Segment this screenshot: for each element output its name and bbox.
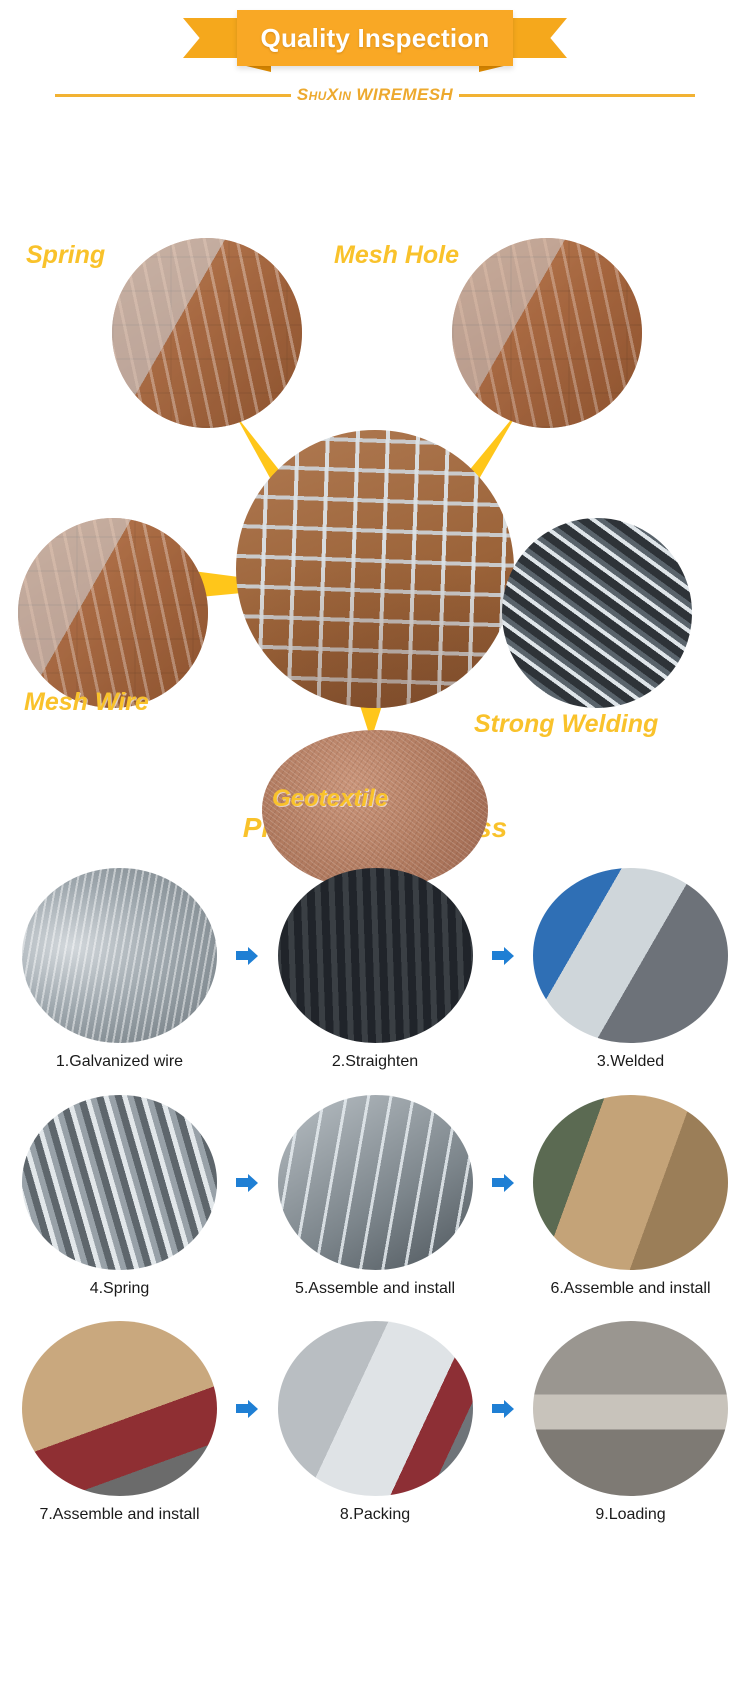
process-row-1: 1.Galvanized wire 2.Straighten 3.Welded [22,868,728,1071]
label-mesh-hole: Mesh Hole [334,241,459,270]
process-grid: 1.Galvanized wire 2.Straighten 3.Welded … [0,868,750,1524]
photo-mesh-hole [452,238,642,428]
label-spring: Spring [26,241,105,270]
process-step-2[interactable]: 2.Straighten [278,868,473,1071]
step-thumbnail [278,868,473,1043]
rule-left [55,94,291,97]
label-strong-welding: Strong Welding [474,710,658,739]
center-product-photo [236,430,514,708]
photo-mesh-wire [18,518,208,708]
step-thumbnail [533,1095,728,1270]
ribbon-graphic: Quality Inspection [183,10,567,66]
step-caption: 8.Packing [340,1506,410,1524]
step-caption: 9.Loading [595,1506,665,1524]
process-step-4[interactable]: 4.Spring [22,1095,217,1298]
photo-spring [112,238,302,428]
arrow-right-icon [490,943,516,969]
step-caption: 7.Assemble and install [39,1506,199,1524]
brand-subtitle: ShuXin WIREMESH [0,80,750,110]
step-thumbnail [278,1321,473,1496]
step-caption: 3.Welded [597,1053,664,1071]
arrow-right-icon [490,1396,516,1422]
page-banner: Quality Inspection [0,6,750,74]
arrow-right-icon [234,943,260,969]
arrow-right-icon [234,1170,260,1196]
process-step-3[interactable]: 3.Welded [533,868,728,1071]
page-title: Quality Inspection [261,23,490,54]
step-thumbnail [22,1321,217,1496]
step-caption: 5.Assemble and install [295,1280,455,1298]
label-mesh-wire: Mesh Wire [24,688,149,717]
step-thumbnail [533,868,728,1043]
label-geotextile: Geotextile [272,785,388,813]
process-step-7[interactable]: 7.Assemble and install [22,1321,217,1524]
process-row-2: 4.Spring 5.Assemble and install 6.Assemb… [22,1095,728,1298]
inspection-diagram: Spring Mesh Hole Mesh Wire Strong Weldin… [0,110,750,810]
process-step-6[interactable]: 6.Assemble and install [533,1095,728,1298]
step-caption: 1.Galvanized wire [56,1053,183,1071]
process-step-9[interactable]: 9.Loading [533,1321,728,1524]
brand-name: ShuXin WIREMESH [291,85,459,105]
arrow-right-icon [234,1396,260,1422]
step-thumbnail [533,1321,728,1496]
photo-strong-welding [502,518,692,708]
process-step-1[interactable]: 1.Galvanized wire [22,868,217,1071]
step-caption: 4.Spring [90,1280,150,1298]
step-thumbnail [22,868,217,1043]
ribbon-body: Quality Inspection [237,10,513,66]
step-thumbnail [278,1095,473,1270]
step-caption: 2.Straighten [332,1053,418,1071]
step-thumbnail [22,1095,217,1270]
process-step-8[interactable]: 8.Packing [278,1321,473,1524]
step-caption: 6.Assemble and install [550,1280,710,1298]
process-step-5[interactable]: 5.Assemble and install [278,1095,473,1298]
rule-right [459,94,695,97]
process-row-3: 7.Assemble and install 8.Packing 9.Loadi… [22,1321,728,1524]
arrow-right-icon [490,1170,516,1196]
